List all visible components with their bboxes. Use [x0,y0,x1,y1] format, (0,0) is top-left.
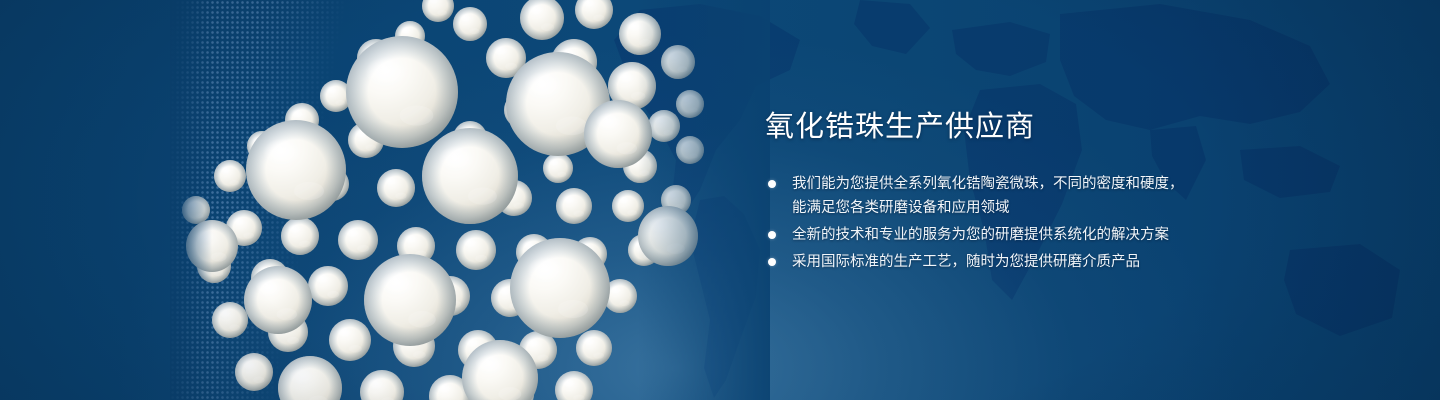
list-item-line-2: 能满足您各类研磨设备和应用领域 [792,196,1325,220]
list-item: 我们能为您提供全系列氧化锆陶瓷微珠，不同的密度和硬度， 能满足您各类研磨设备和应… [765,172,1325,220]
zirconia-beads-illustration [170,0,770,400]
list-item-line-1: 全新的技术和专业的服务为您的研磨提供系统化的解决方案 [792,227,1169,243]
hero-banner: 氧化锆珠生产供应商 我们能为您提供全系列氧化锆陶瓷微珠，不同的密度和硬度， 能满… [0,0,1440,400]
bullet-dot-icon [768,258,776,266]
list-item-line-1: 采用国际标准的生产工艺，随时为您提供研磨介质产品 [792,254,1140,270]
feature-list: 我们能为您提供全系列氧化锆陶瓷微珠，不同的密度和硬度， 能满足您各类研磨设备和应… [765,172,1325,274]
bead-photo [170,0,770,400]
list-item: 采用国际标准的生产工艺，随时为您提供研磨介质产品 [765,250,1325,274]
page-title: 氧化锆珠生产供应商 [765,108,1325,146]
list-item-line-1: 我们能为您提供全系列氧化锆陶瓷微珠，不同的密度和硬度， [792,176,1184,192]
list-item: 全新的技术和专业的服务为您的研磨提供系统化的解决方案 [765,223,1325,247]
banner-copy: 氧化锆珠生产供应商 我们能为您提供全系列氧化锆陶瓷微珠，不同的密度和硬度， 能满… [765,108,1325,277]
bullet-dot-icon [768,231,776,239]
bullet-dot-icon [768,180,776,188]
